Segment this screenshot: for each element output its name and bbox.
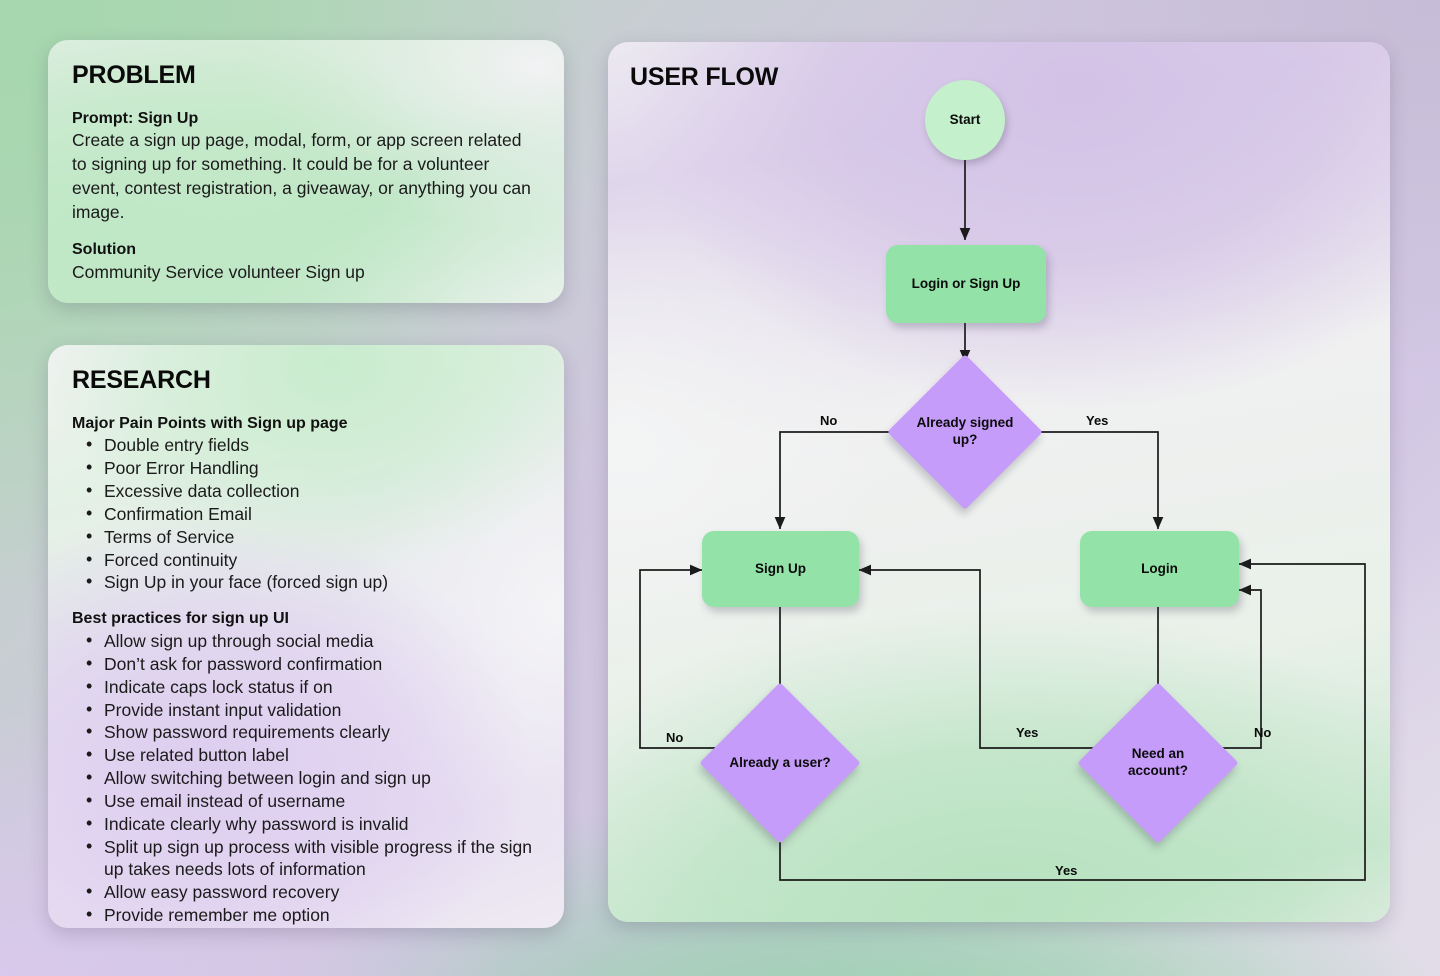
flow-node-login-or-signup[interactable]: Login or Sign Up	[886, 245, 1046, 323]
problem-solution-label: Solution	[72, 239, 540, 261]
flow-node-login-or-signup-label: Login or Sign Up	[912, 276, 1021, 293]
edge-label-left-yes: Yes	[1016, 725, 1038, 740]
pain-points-heading: Major Pain Points with Sign up page	[72, 413, 540, 435]
edge-label-right-no: No	[1254, 725, 1271, 740]
flow-node-already-a-user[interactable]: Already a user?	[723, 706, 837, 820]
best-practices-list: Allow sign up through social mediaDon’t …	[76, 630, 540, 927]
flow-node-need-an-account-label: Need an account?	[1101, 746, 1215, 780]
list-item: Provide instant input validation	[76, 699, 540, 721]
flow-node-login[interactable]: Login	[1080, 531, 1239, 607]
problem-prompt-body: Create a sign up page, modal, form, or a…	[72, 129, 540, 225]
list-item: Provide remember me option	[76, 904, 540, 926]
edge-label-top-no: No	[820, 413, 837, 428]
list-item: Indicate clearly why password is invalid	[76, 813, 540, 835]
flow-node-need-an-account[interactable]: Need an account?	[1101, 706, 1215, 820]
edge-label-top-yes: Yes	[1086, 413, 1108, 428]
research-card: RESEARCH Major Pain Points with Sign up …	[48, 345, 564, 928]
flow-node-signup-label: Sign Up	[755, 561, 806, 578]
list-item: Terms of Service	[76, 526, 540, 548]
list-item: Sign Up in your face (forced sign up)	[76, 571, 540, 593]
list-item: Double entry fields	[76, 434, 540, 456]
flow-node-start[interactable]: Start	[925, 80, 1005, 160]
list-item: Allow switching between login and sign u…	[76, 767, 540, 789]
list-item: Confirmation Email	[76, 503, 540, 525]
best-practices-heading: Best practices for sign up UI	[72, 608, 540, 630]
list-item: Don’t ask for password confirmation	[76, 653, 540, 675]
edge-label-left-no: No	[666, 730, 683, 745]
problem-card: PROBLEM Prompt: Sign Up Create a sign up…	[48, 40, 564, 303]
flow-node-already-signed-up[interactable]: Already signed up?	[910, 377, 1020, 487]
research-card-title: RESEARCH	[72, 367, 540, 395]
list-item: Split up sign up process with visible pr…	[76, 836, 540, 881]
flow-node-signup[interactable]: Sign Up	[702, 531, 859, 607]
problem-prompt-label: Prompt: Sign Up	[72, 108, 540, 130]
list-item: Forced continuity	[76, 549, 540, 571]
pain-points-list: Double entry fieldsPoor Error HandlingEx…	[76, 434, 540, 594]
edge-label-bottom-yes: Yes	[1055, 863, 1077, 878]
list-item: Excessive data collection	[76, 480, 540, 502]
list-item: Allow easy password recovery	[76, 881, 540, 903]
user-flow-card: USER FLOW	[608, 42, 1390, 922]
list-item: Use related button label	[76, 744, 540, 766]
list-item: Show password requirements clearly	[76, 721, 540, 743]
problem-card-title: PROBLEM	[72, 62, 540, 90]
flow-node-login-label: Login	[1141, 561, 1178, 578]
flow-node-already-signed-up-label: Already signed up?	[910, 415, 1020, 449]
list-item: Use email instead of username	[76, 790, 540, 812]
flow-node-already-a-user-label: Already a user?	[723, 755, 836, 772]
flow-node-start-label: Start	[950, 112, 981, 129]
problem-solution-body: Community Service volunteer Sign up	[72, 261, 540, 285]
user-flow-diagram: Start Login or Sign Up Already signed up…	[608, 42, 1390, 922]
list-item: Allow sign up through social media	[76, 630, 540, 652]
list-item: Indicate caps lock status if on	[76, 676, 540, 698]
list-item: Poor Error Handling	[76, 457, 540, 479]
